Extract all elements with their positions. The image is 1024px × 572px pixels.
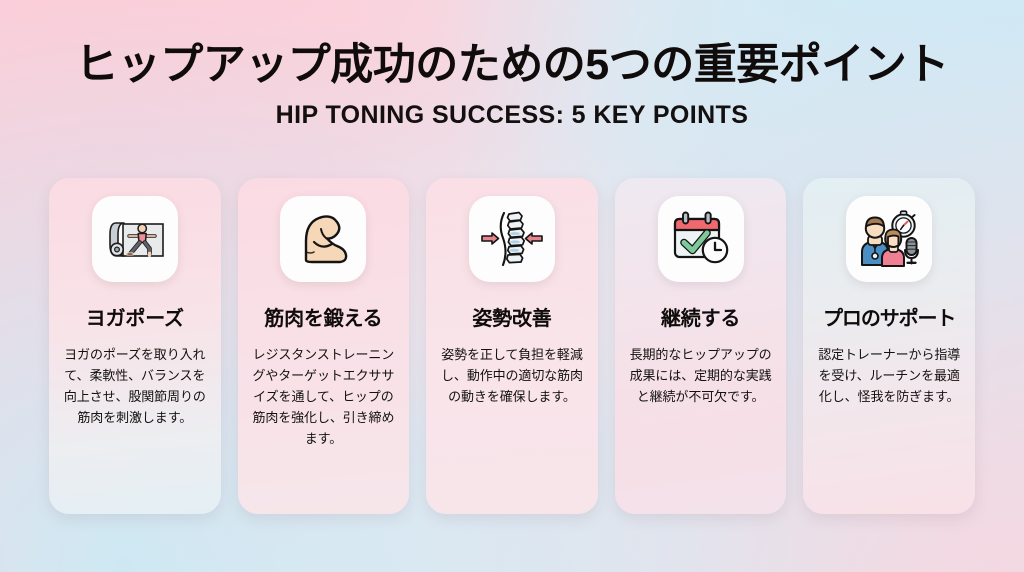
- page-title-japanese: ヒップアップ成功のための5つの重要ポイント: [0, 0, 1024, 88]
- yoga-mat-pose-icon: [103, 212, 167, 266]
- icon-tile-trainers: [846, 196, 932, 282]
- icon-tile-yoga: [92, 196, 178, 282]
- page-subtitle-english: HIP TONING SUCCESS: 5 KEY POINTS: [0, 88, 1024, 130]
- card-title-build-muscle: 筋肉を鍛える: [264, 282, 382, 331]
- card-body-yoga-poses: ヨガのポーズを取り入れて、柔軟性、バランスを向上させ、股関節周りの筋肉を刺激しま…: [61, 331, 209, 428]
- card-body-consistency: 長期的なヒップアップの成果には、定期的な実践と継続が不可欠です。: [627, 331, 775, 407]
- card-title-posture-improvement: 姿勢改善: [472, 282, 551, 331]
- point-card-professional-support[interactable]: プロのサポート 認定トレーナーから指導を受け、ルーチンを最適化し、怪我を防ぎます…: [803, 178, 975, 514]
- card-body-professional-support: 認定トレーナーから指導を受け、ルーチンを最適化し、怪我を防ぎます。: [815, 331, 963, 407]
- flexed-bicep-icon: [292, 210, 354, 268]
- point-card-consistency[interactable]: 継続する 長期的なヒップアップの成果には、定期的な実践と継続が不可欠です。: [615, 178, 787, 514]
- icon-tile-calendar: [658, 196, 744, 282]
- card-title-consistency: 継続する: [661, 282, 740, 331]
- card-body-posture-improvement: 姿勢を正して負担を軽減し、動作中の適切な筋肉の動きを確保します。: [438, 331, 586, 407]
- point-card-build-muscle[interactable]: 筋肉を鍛える レジスタンストレーニングやターゲットエクササイズを通して、ヒップの…: [238, 178, 410, 514]
- header: ヒップアップ成功のための5つの重要ポイント HIP TONING SUCCESS…: [0, 0, 1024, 130]
- points-card-row: ヨガポーズ ヨガのポーズを取り入れて、柔軟性、バランスを向上させ、股関節周りの筋…: [49, 178, 975, 514]
- trainers-stopwatch-mic-icon: [856, 210, 922, 268]
- icon-tile-muscle: [280, 196, 366, 282]
- calendar-check-clock-icon: [669, 210, 733, 268]
- infographic-canvas: ヒップアップ成功のための5つの重要ポイント HIP TONING SUCCESS…: [0, 0, 1024, 572]
- card-title-yoga-poses: ヨガポーズ: [86, 282, 184, 331]
- card-title-professional-support: プロのサポート: [823, 282, 955, 331]
- spine-alignment-icon: [479, 209, 545, 269]
- point-card-posture-improvement[interactable]: 姿勢改善 姿勢を正して負担を軽減し、動作中の適切な筋肉の動きを確保します。: [426, 178, 598, 514]
- point-card-yoga-poses[interactable]: ヨガポーズ ヨガのポーズを取り入れて、柔軟性、バランスを向上させ、股関節周りの筋…: [49, 178, 221, 514]
- card-body-build-muscle: レジスタンストレーニングやターゲットエクササイズを通して、ヒップの筋肉を強化し、…: [250, 331, 398, 449]
- icon-tile-spine: [469, 196, 555, 282]
